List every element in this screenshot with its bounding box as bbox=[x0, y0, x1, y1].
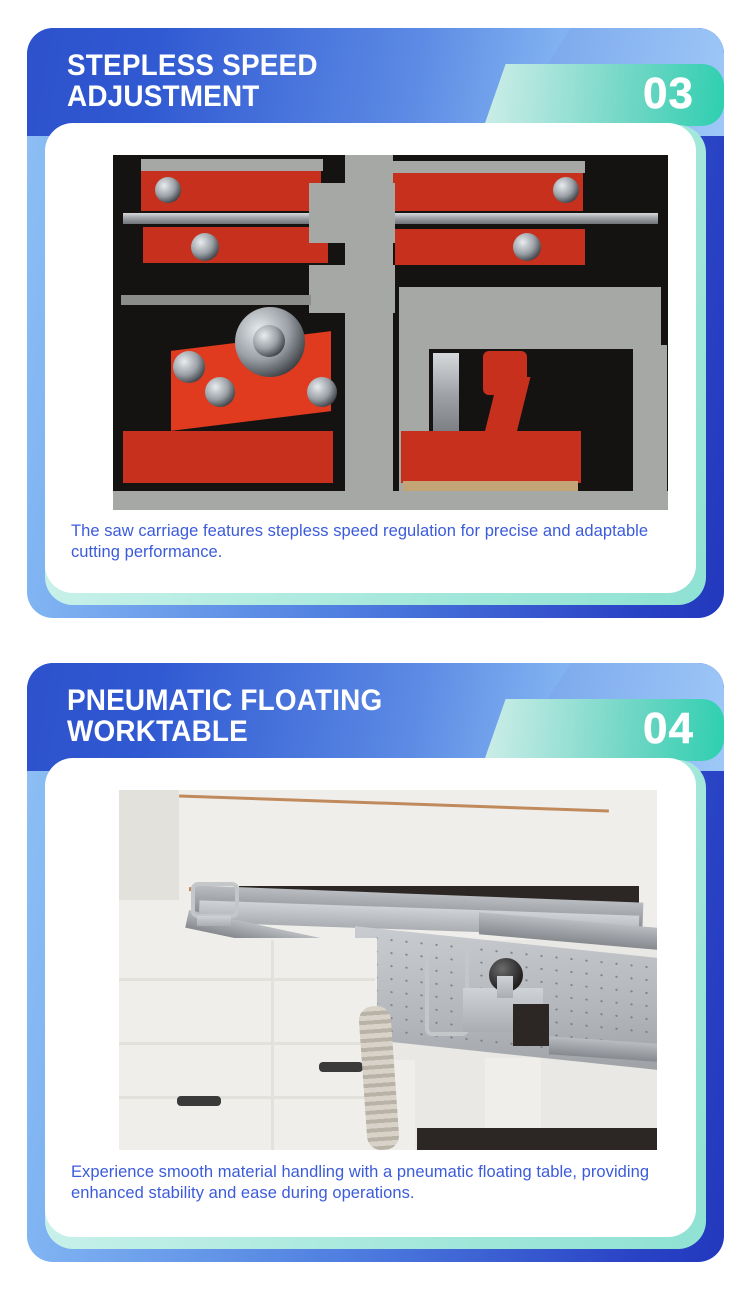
card-number: 03 bbox=[643, 72, 694, 116]
card-white-panel: The saw carriage features stepless speed… bbox=[45, 123, 696, 593]
card-number-banner: 03 bbox=[484, 64, 724, 126]
card-title: STEPLESS SPEED ADJUSTMENT bbox=[67, 50, 458, 112]
feature-image-04 bbox=[119, 790, 657, 1150]
worktable-illustration bbox=[119, 790, 657, 1150]
feature-image-03 bbox=[113, 155, 668, 510]
feature-card-04: 04 PNEUMATIC FLOATING WORKTABLE bbox=[27, 663, 724, 1262]
card-title: PNEUMATIC FLOATING WORKTABLE bbox=[67, 685, 458, 747]
machinery-illustration bbox=[113, 155, 668, 510]
feature-caption-04: Experience smooth material handling with… bbox=[71, 1162, 671, 1204]
card-number-banner: 04 bbox=[484, 699, 724, 761]
feature-caption-03: The saw carriage features stepless speed… bbox=[71, 521, 671, 563]
feature-card-03: 03 STEPLESS SPEED ADJUSTMENT bbox=[27, 28, 724, 618]
card-white-panel: Experience smooth material handling with… bbox=[45, 758, 696, 1237]
card-number: 04 bbox=[643, 707, 694, 751]
